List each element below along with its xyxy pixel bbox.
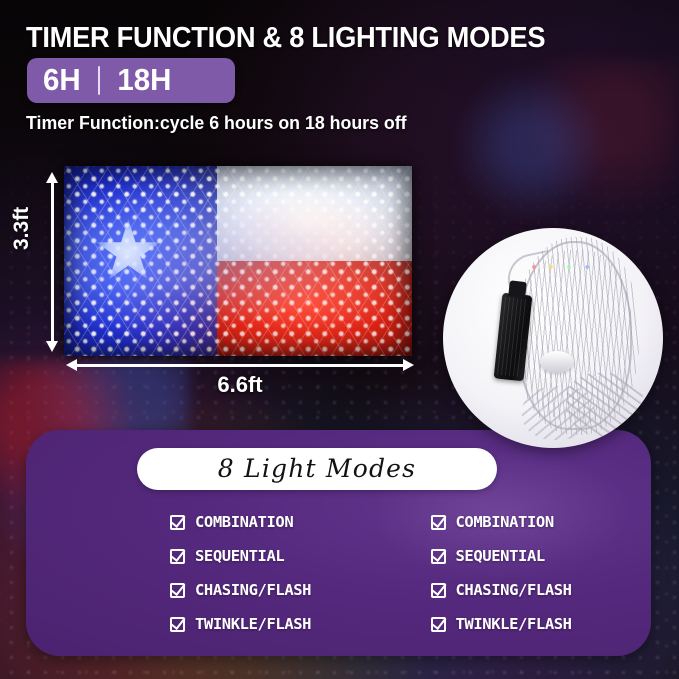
mode-label: SEQUENTIAL	[195, 547, 284, 565]
mode-item: COMBINATION	[170, 505, 391, 539]
badge-6h-label: 6H	[43, 64, 81, 97]
light-modes-title-pill: 8 Light Modes	[137, 448, 497, 490]
mode-label: CHASING/FLASH	[195, 581, 311, 599]
mode-label: CHASING/FLASH	[456, 581, 572, 599]
width-dimension-arrow	[66, 359, 414, 371]
checkbox-checked-icon	[170, 515, 185, 530]
mode-label: COMBINATION	[195, 513, 293, 531]
mode-item: SEQUENTIAL	[170, 539, 391, 573]
mode-item: TWINKLE/FLASH	[431, 607, 652, 641]
mode-item: TWINKLE/FLASH	[170, 607, 391, 641]
infographic-canvas: TIMER FUNCTION & 8 LIGHTING MODES 6H 18H…	[0, 0, 679, 679]
product-inset-led-string	[443, 228, 663, 448]
arrow-shaft	[75, 364, 405, 367]
checkbox-checked-icon	[170, 583, 185, 598]
mode-item: SEQUENTIAL	[431, 539, 652, 573]
inset-led-bulbs	[527, 263, 597, 271]
badge-18h-label: 18H	[117, 64, 171, 97]
mode-item: CHASING/FLASH	[170, 573, 391, 607]
arrow-shaft	[51, 181, 54, 343]
product-image-flag-net-light	[64, 166, 412, 356]
checkbox-checked-icon	[431, 515, 446, 530]
height-dimension-label: 3.3ft	[10, 207, 34, 250]
mode-item: COMBINATION	[431, 505, 652, 539]
width-dimension-label: 6.6ft	[0, 372, 480, 398]
page-title: TIMER FUNCTION & 8 LIGHTING MODES	[26, 22, 545, 55]
timer-subtitle: Timer Function:cycle 6 hours on 18 hours…	[26, 112, 407, 134]
arrow-head-right-icon	[403, 359, 414, 371]
checkbox-checked-icon	[431, 549, 446, 564]
checkbox-checked-icon	[431, 617, 446, 632]
height-dimension-arrow	[46, 172, 58, 352]
light-modes-list: COMBINATION COMBINATION SEQUENTIAL SEQUE…	[26, 505, 651, 650]
mode-label: TWINKLE/FLASH	[195, 615, 311, 633]
mode-item: CHASING/FLASH	[431, 573, 652, 607]
badge-divider	[98, 66, 100, 95]
mode-label: TWINKLE/FLASH	[456, 615, 572, 633]
light-modes-title: 8 Light Modes	[218, 454, 416, 485]
inset-cable-knot	[540, 351, 574, 373]
mode-label: COMBINATION	[456, 513, 554, 531]
checkbox-checked-icon	[431, 583, 446, 598]
flag-vignette	[64, 166, 412, 356]
arrow-head-down-icon	[46, 341, 58, 352]
checkbox-checked-icon	[170, 549, 185, 564]
mode-label: SEQUENTIAL	[456, 547, 545, 565]
timer-badge: 6H 18H	[27, 58, 235, 103]
background-glow-top	[430, 60, 679, 230]
checkbox-checked-icon	[170, 617, 185, 632]
